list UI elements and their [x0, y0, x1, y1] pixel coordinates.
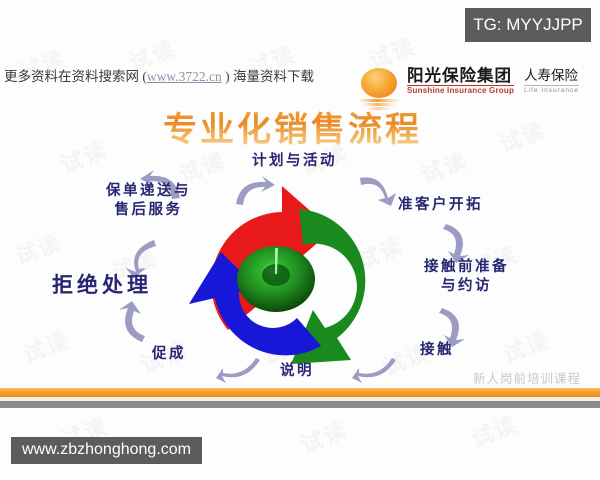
sales-cycle-diagram: [175, 178, 425, 383]
footer-gray-bar: [0, 401, 600, 408]
stage-label-prepare: 接触前准备 与约访: [424, 258, 509, 295]
connector-arrow-close-in: [216, 356, 262, 386]
logo-secondary-wordmark: 人寿保险 Life Insurance: [524, 64, 579, 94]
slide-canvas: 试读 试读 试读 试读 试读 试读 试读 试读 试读 试读 试读 试读 试读 试…: [0, 0, 600, 480]
logo-company-name-cn: 阳光保险集团: [407, 67, 514, 84]
watermark-tile: 试读: [18, 323, 74, 369]
source-suffix-text: ) 海量资料下载: [222, 69, 314, 84]
source-url-link[interactable]: www.3722.cn: [147, 69, 222, 84]
connector-arrow-prospect-in: [358, 172, 400, 206]
logo-product-name-en: Life Insurance: [524, 85, 579, 94]
logo-product-name-cn: 人寿保险: [524, 69, 579, 83]
watermark-tile: 试读: [466, 407, 522, 453]
stage-label-plan: 计划与活动: [252, 152, 337, 171]
stage-label-deliver-line2: 售后服务: [106, 201, 191, 220]
stage-label-deliver: 保单递送与 售后服务: [106, 182, 191, 219]
footer-site-watermark: www.zbzhonghong.com: [11, 437, 202, 464]
stage-label-prospect: 准客户开拓: [398, 196, 483, 215]
telegram-handle-badge: TG: MYYJJPP: [465, 8, 591, 42]
connector-arrow-reject-in: [116, 300, 150, 344]
source-attribution-line: 更多资料在资料搜索网 (www.3722.cn ) 海量资料下载: [4, 65, 314, 85]
watermark-tile: 试读: [498, 323, 554, 369]
logo-company-name-en: Sunshine Insurance Group: [407, 85, 514, 96]
sun-ray-shape: [362, 103, 396, 106]
stage-label-deliver-line1: 保单递送与: [106, 182, 191, 201]
stage-label-explain: 说明: [280, 362, 314, 381]
sun-disc-shape: [361, 68, 397, 98]
sun-icon: [356, 64, 402, 110]
connector-arrow-plan-in: [232, 174, 276, 210]
stage-label-close: 促成: [152, 345, 186, 364]
stage-label-prepare-line2: 与约访: [424, 277, 509, 296]
stage-label-prepare-line1: 接触前准备: [424, 258, 509, 277]
sun-ray-shape: [367, 107, 391, 110]
sun-ray-shape: [358, 99, 400, 102]
watermark-tile: 试读: [296, 413, 352, 459]
source-prefix-text: 更多资料在资料搜索网 (: [4, 69, 147, 84]
footer-orange-bar: [0, 388, 600, 397]
watermark-tile: 试读: [494, 113, 550, 159]
connector-arrow-explain-in: [352, 356, 398, 386]
course-note-text: 新人岗前培训课程: [473, 368, 581, 387]
company-logo: 阳光保险集团 Sunshine Insurance Group 人寿保险 Lif…: [356, 64, 596, 116]
stage-label-reject: 拒绝处理: [52, 272, 152, 299]
watermark-tile: 试读: [56, 133, 112, 179]
watermark-tile: 试读: [10, 225, 66, 271]
logo-primary-wordmark: 阳光保险集团 Sunshine Insurance Group: [407, 64, 514, 96]
stage-label-contact: 接触: [420, 341, 454, 360]
